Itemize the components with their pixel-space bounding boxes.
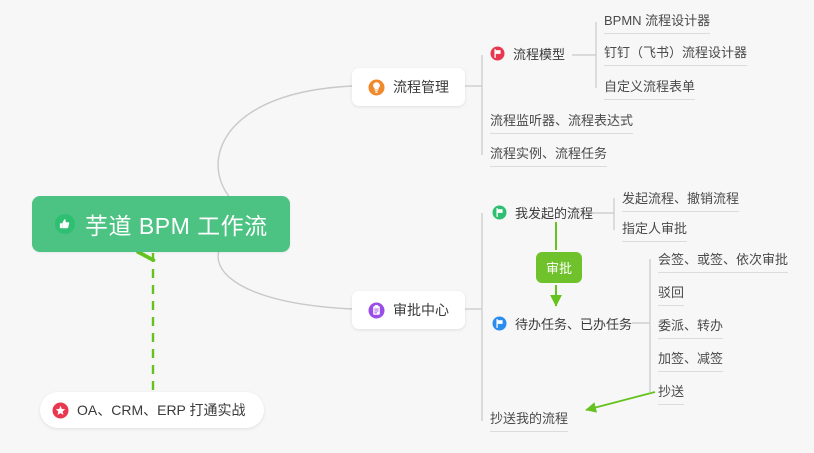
lightbulb-icon — [368, 79, 385, 96]
flag-icon — [490, 46, 505, 61]
branch-label: 流程管理 — [393, 77, 449, 97]
leaf-start-cancel-process[interactable]: 发起流程、撤销流程 — [622, 188, 739, 212]
leaf-label: 自定义流程表单 — [604, 76, 695, 95]
node-label: 待办任务、已办任务 — [515, 314, 632, 333]
leaf-label: 流程监听器、流程表达式 — [490, 110, 633, 129]
annotation-approval-chip: 审批 — [536, 252, 582, 283]
star-icon — [52, 402, 69, 419]
annotation-label: 审批 — [546, 261, 572, 276]
leaf-dingtalk-designer[interactable]: 钉钉（飞书）流程设计器 — [604, 42, 747, 66]
leaf-label: 委派、转办 — [658, 315, 723, 334]
node-integration-practice[interactable]: OA、CRM、ERP 打通实战 — [40, 392, 264, 428]
node-label: 我发起的流程 — [515, 203, 593, 222]
branch-approval-center[interactable]: 审批中心 — [352, 291, 465, 329]
leaf-add-remove-sign[interactable]: 加签、减签 — [658, 348, 723, 372]
leaf-cc-to-me-processes[interactable]: 抄送我的流程 — [490, 408, 568, 432]
branch-label: 审批中心 — [393, 300, 449, 320]
leaf-custom-form[interactable]: 自定义流程表单 — [604, 76, 695, 100]
leaf-label: 钉钉（飞书）流程设计器 — [604, 42, 747, 61]
clipboard-icon — [368, 302, 385, 319]
leaf-delegate-transfer[interactable]: 委派、转办 — [658, 315, 723, 339]
mindmap-canvas: 芋道 BPM 工作流 流程管理 流程模型 BPMN 流程设计器 钉钉（飞书 — [0, 0, 814, 453]
node-process-model[interactable]: 流程模型 — [490, 44, 565, 63]
leaf-countersign[interactable]: 会签、或签、依次审批 — [658, 249, 788, 273]
leaf-label: 驳回 — [658, 282, 684, 301]
leaf-label: 指定人审批 — [622, 218, 687, 237]
leaf-cc[interactable]: 抄送 — [658, 381, 684, 405]
branch-process-management[interactable]: 流程管理 — [352, 68, 465, 106]
leaf-reject[interactable]: 驳回 — [658, 282, 684, 306]
node-label: 流程模型 — [513, 44, 565, 63]
leaf-listener-expression[interactable]: 流程监听器、流程表达式 — [490, 110, 633, 134]
node-todo-done-tasks[interactable]: 待办任务、已办任务 — [492, 314, 632, 333]
flag-icon — [492, 316, 507, 331]
thumbs-up-icon — [54, 213, 76, 235]
leaf-label: 发起流程、撤销流程 — [622, 188, 739, 207]
leaf-designated-approver[interactable]: 指定人审批 — [622, 218, 687, 242]
leaf-instance-task[interactable]: 流程实例、流程任务 — [490, 143, 607, 167]
leaf-label: 会签、或签、依次审批 — [658, 249, 788, 268]
leaf-label: 加签、减签 — [658, 348, 723, 367]
root-node[interactable]: 芋道 BPM 工作流 — [32, 196, 290, 252]
leaf-label: 抄送我的流程 — [490, 408, 568, 427]
root-label: 芋道 BPM 工作流 — [85, 207, 268, 241]
leaf-label: BPMN 流程设计器 — [604, 10, 710, 29]
leaf-label: 抄送 — [658, 381, 684, 400]
flag-icon — [492, 205, 507, 220]
node-my-started-processes[interactable]: 我发起的流程 — [492, 203, 593, 222]
leaf-label: 流程实例、流程任务 — [490, 143, 607, 162]
leaf-bpmn-designer[interactable]: BPMN 流程设计器 — [604, 10, 710, 34]
node-label: OA、CRM、ERP 打通实战 — [77, 400, 246, 420]
